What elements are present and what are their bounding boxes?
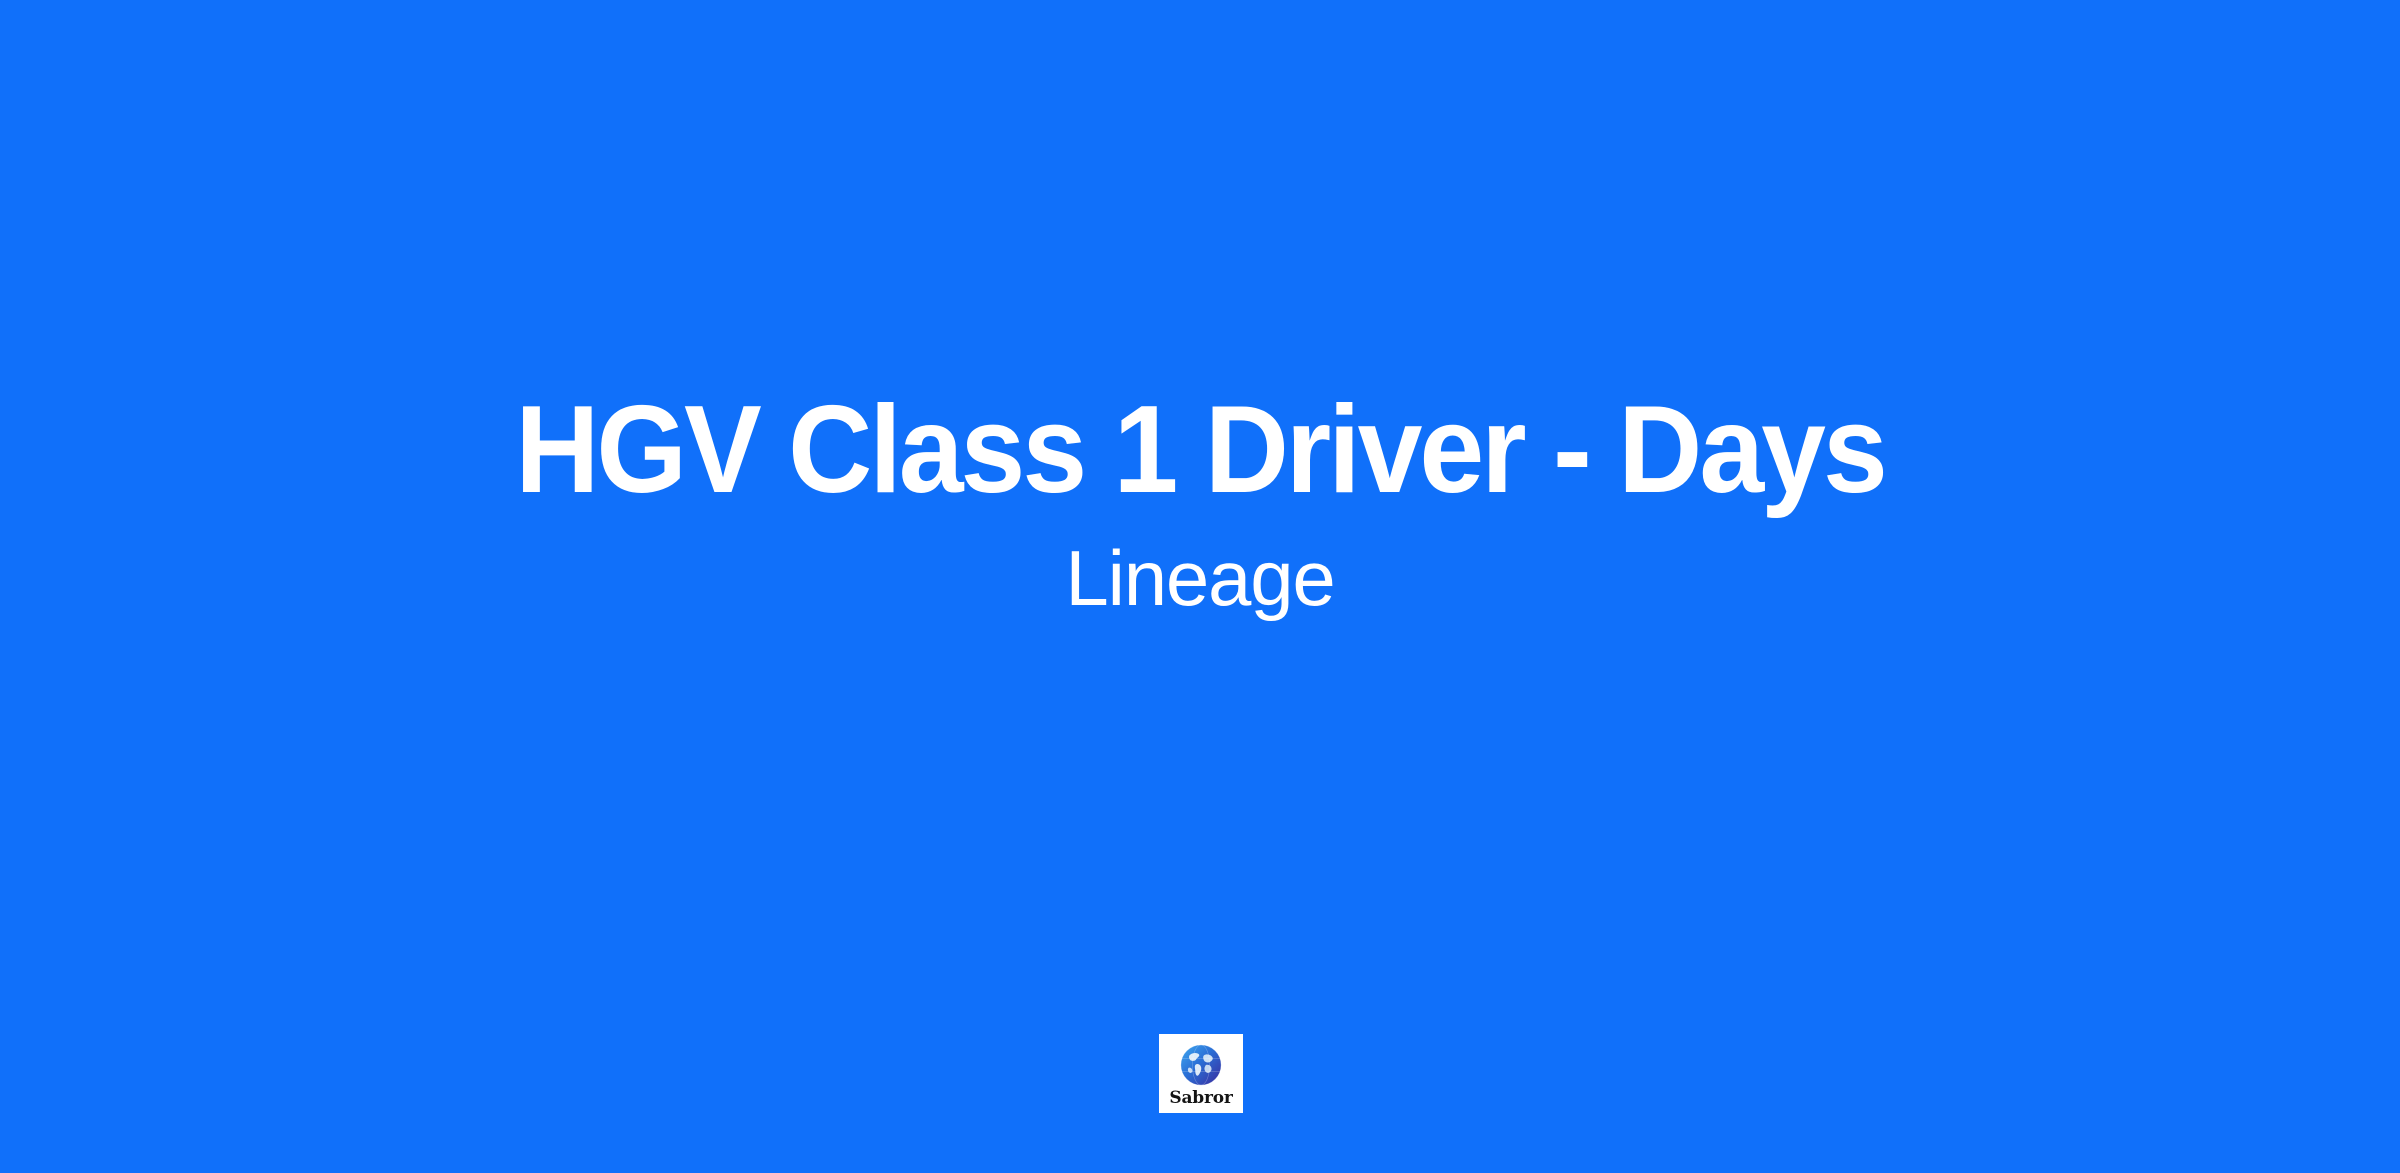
company-logo-card: Sabror	[1159, 1034, 1243, 1113]
job-share-card: HGV Class 1 Driver - Days Lineage	[0, 0, 2400, 1173]
page-title: HGV Class 1 Driver - Days	[185, 390, 2215, 510]
logo-wordmark: Sabror	[1169, 1089, 1232, 1108]
headline-block: HGV Class 1 Driver - Days Lineage	[0, 390, 2400, 620]
company-name: Lineage	[120, 510, 2280, 620]
globe-icon	[1178, 1042, 1224, 1088]
